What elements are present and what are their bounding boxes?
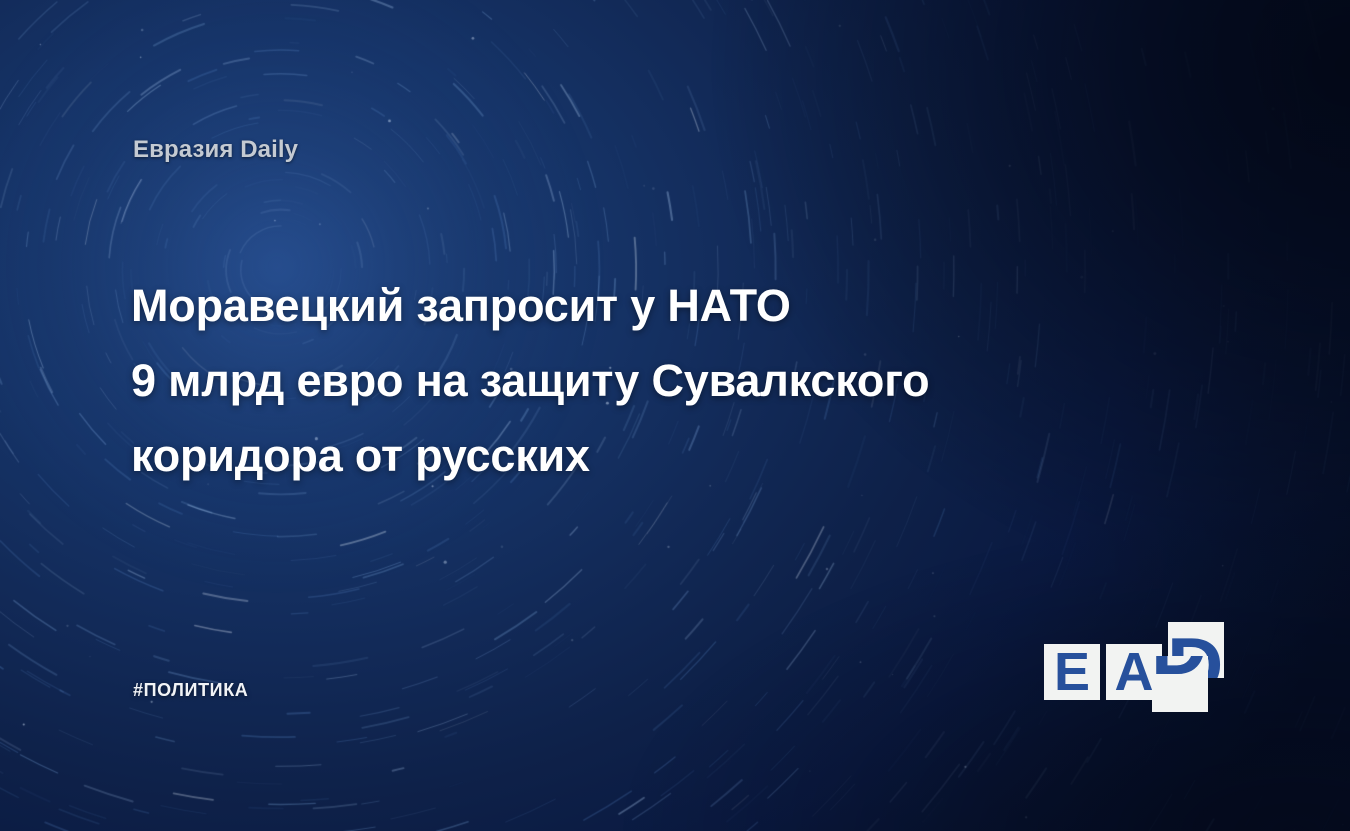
category-hashtag[interactable]: #ПОЛИТИКА [133,680,248,701]
logo-letter-e: E [1044,644,1100,700]
headline-line-3: коридора от русских [131,418,1131,493]
logo-tile-e: E [1044,644,1100,700]
brand-name: Евразия Daily [133,136,298,164]
page-title: Моравецкий запросит у НАТО 9 млрд евро н… [131,268,1131,493]
eadaily-logo[interactable]: E A D D [1044,622,1224,712]
logo-tile-d-lower: D [1152,656,1208,712]
logo-letter-d-lower-half: D [1155,656,1208,703]
headline-line-2: 9 млрд евро на защиту Сувалкского [131,343,1131,418]
news-social-card: Евразия Daily Моравецкий запросит у НАТО… [0,0,1350,831]
headline-line-1: Моравецкий запросит у НАТО [131,268,1131,343]
